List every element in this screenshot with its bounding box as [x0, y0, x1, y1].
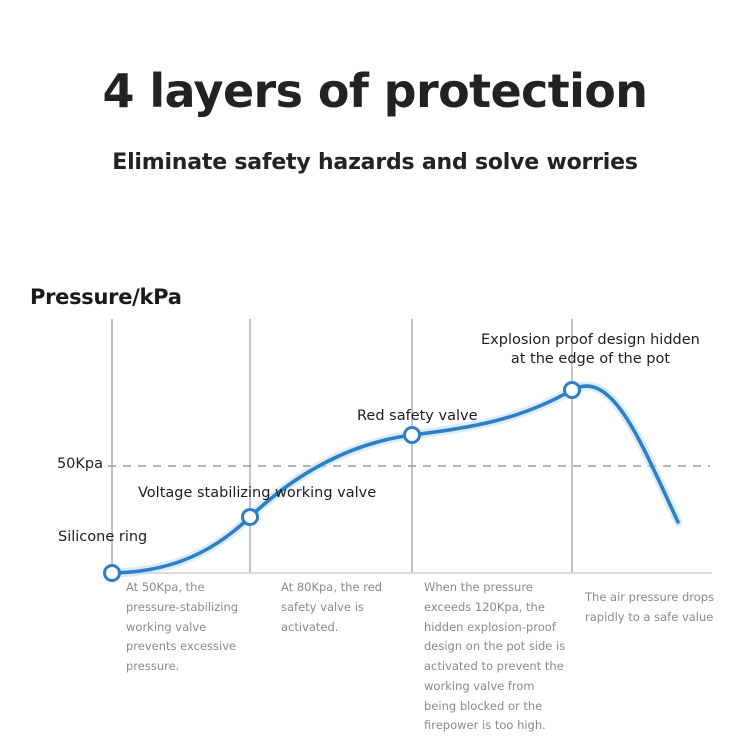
callout-explosion-line-2: at the edge of the pot: [481, 350, 700, 369]
y-axis-title: Pressure/kPa: [30, 285, 182, 309]
infographic-page: 4 layers of protection Eliminate safety …: [0, 0, 750, 750]
stage-description-4: The air pressure drops rapidly to a safe…: [585, 588, 735, 628]
callout-explosion-proof: Explosion proof design hidden at the edg…: [481, 331, 700, 368]
callout-voltage-stabilizing-working-valve: Voltage stabilizing working valve: [138, 484, 376, 503]
stage-description-3: When the pressure exceeds 120Kpa, the hi…: [424, 578, 566, 736]
pressure-curve-chart: Pressure/kPa 50Kpa Silicone ring Voltage…: [0, 0, 750, 750]
callout-silicone-ring: Silicone ring: [58, 528, 147, 547]
stage-description-2: At 80Kpa, the red safety valve is activa…: [281, 578, 403, 637]
data-point-voltage-stabilizing-valve[interactable]: [243, 510, 258, 525]
callout-explosion-line-1: Explosion proof design hidden: [481, 331, 700, 350]
callout-red-safety-valve: Red safety valve: [357, 407, 478, 426]
stage-description-1: At 50Kpa, the pressure-stabilizing worki…: [126, 578, 246, 677]
chart-svg: [0, 0, 750, 750]
data-point-explosion-proof[interactable]: [565, 383, 580, 398]
data-point-silicone-ring[interactable]: [105, 566, 120, 581]
y-tick-label-50kpa: 50Kpa: [57, 456, 103, 472]
data-point-red-safety-valve[interactable]: [405, 428, 420, 443]
data-point-markers: [105, 383, 580, 581]
